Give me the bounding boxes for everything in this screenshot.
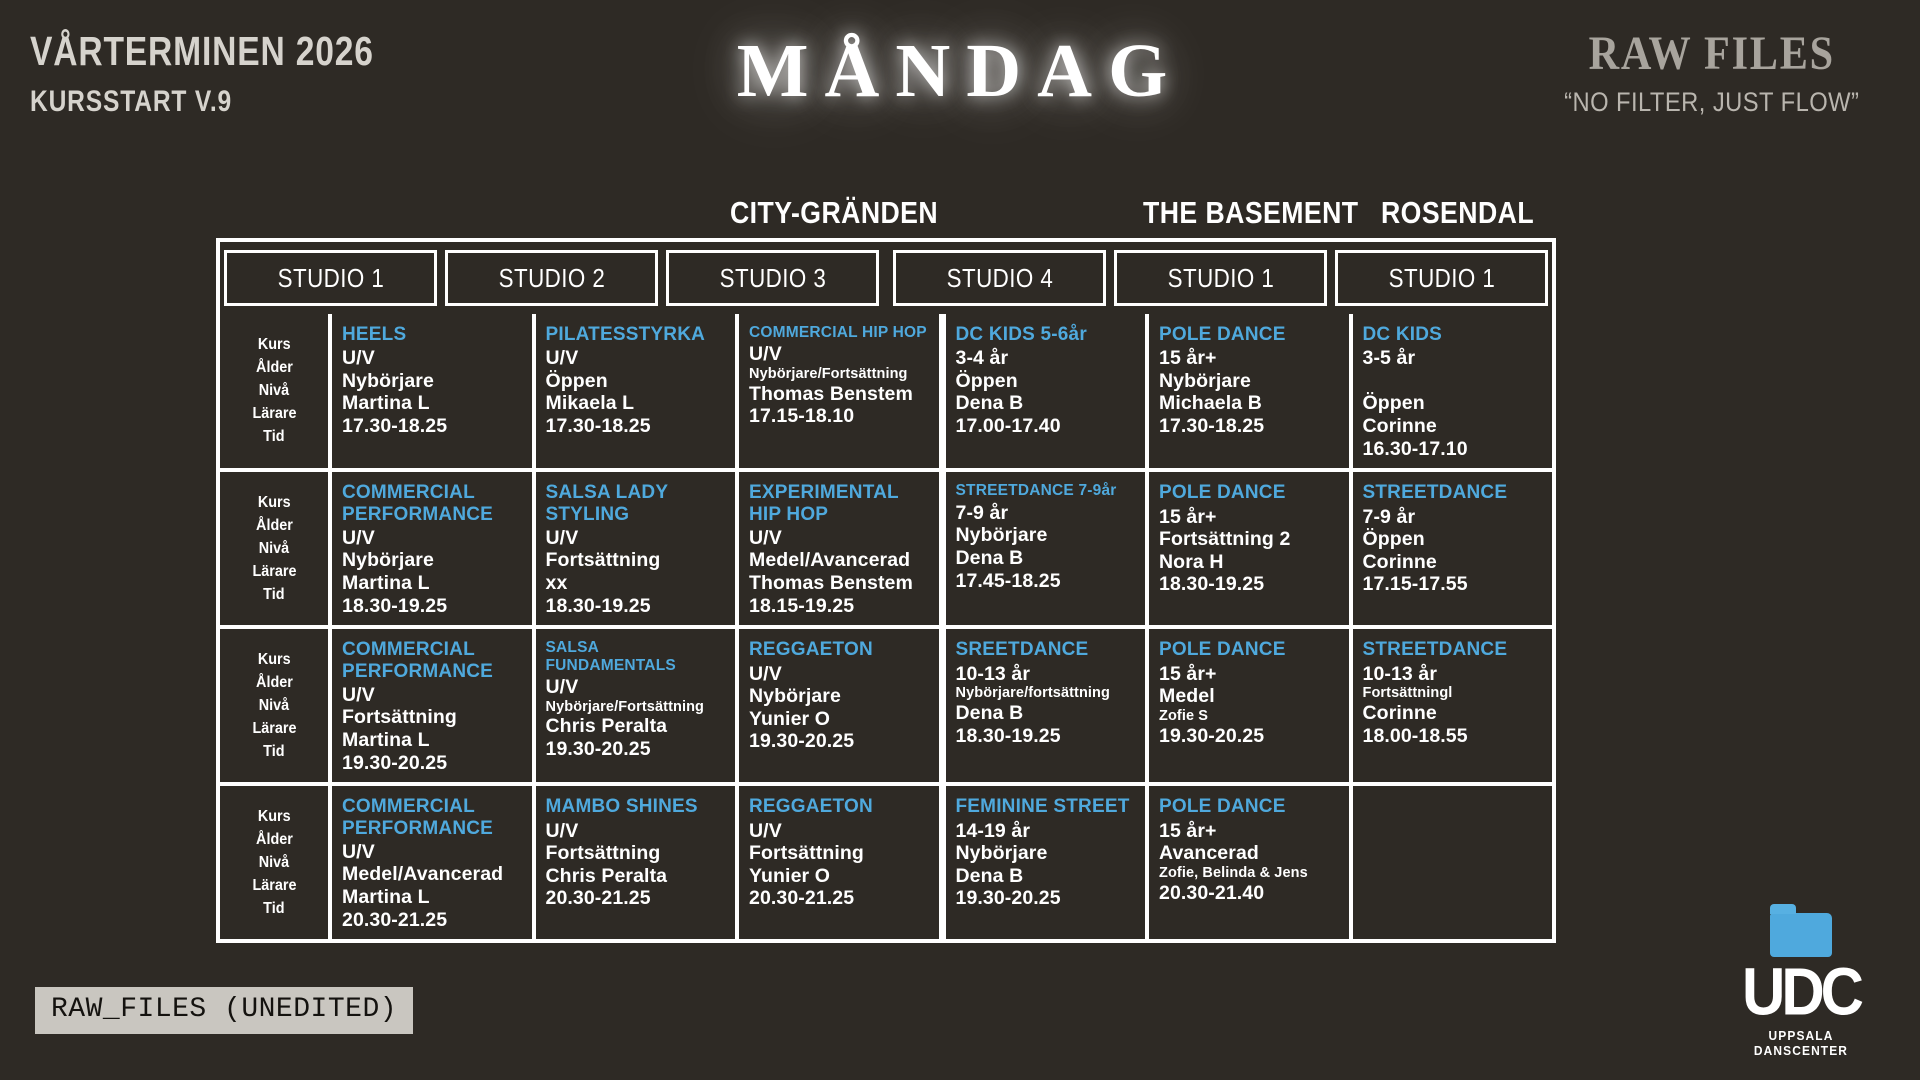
class-title: STREETDANCE	[1363, 639, 1545, 660]
brand-tagline: “NO FILTER, JUST FLOW”	[1565, 87, 1860, 118]
class-level: Medel/Avancerad	[342, 863, 524, 886]
row-label: Lärare	[252, 876, 296, 896]
class-title: COMMERCIAL HIP HOP	[749, 324, 931, 341]
class-age: 3-4 år	[956, 347, 1138, 370]
class-title: COMMERCIAL PERFORMANCE	[342, 639, 524, 682]
class-title: POLE DANCE	[1159, 796, 1341, 817]
class-level: Nybörjare	[1159, 370, 1341, 393]
class-level: Nybörjare/fortsättning	[956, 685, 1138, 702]
studio-header-0: STUDIO 1	[224, 250, 437, 306]
class-age: 15 år+	[1159, 506, 1341, 529]
class-cell-empty	[1353, 786, 1553, 939]
class-teacher: Thomas Benstem	[749, 572, 931, 595]
class-cell[interactable]: HEELSU/VNybörjareMartina L17.30-18.25	[332, 314, 536, 468]
studio-label: STUDIO 1	[1388, 263, 1495, 294]
schedule-row: KursÅlderNivåLärareTidCOMMERCIAL PERFORM…	[220, 782, 1552, 939]
class-teacher: Corinne	[1363, 551, 1545, 574]
row-cells: HEELSU/VNybörjareMartina L17.30-18.25PIL…	[332, 314, 1552, 468]
class-time: 19.30-20.25	[342, 752, 524, 775]
class-title: SALSA LADY STYLING	[546, 482, 728, 525]
class-level: Medel/Avancerad	[749, 549, 931, 572]
class-level: Öppen	[1363, 528, 1545, 551]
class-title: COMMERCIAL PERFORMANCE	[342, 482, 524, 525]
class-teacher: Yunier O	[749, 708, 931, 731]
class-level: Fortsättningl	[1363, 685, 1545, 702]
row-label: Tid	[263, 585, 284, 605]
class-title: DC KIDS	[1363, 324, 1545, 345]
row-label: Kurs	[258, 650, 291, 670]
class-age: 10-13 år	[956, 663, 1138, 686]
class-age: U/V	[749, 663, 931, 686]
class-age: U/V	[749, 343, 931, 366]
class-level: Nybörjare/Fortsättning	[546, 699, 728, 716]
class-level: Nybörjare	[956, 842, 1138, 865]
class-teacher: Thomas Benstem	[749, 383, 931, 406]
class-title: SREETDANCE	[956, 639, 1138, 660]
class-title: SALSA FUNDAMENTALS	[546, 639, 728, 674]
class-title: FEMININE STREET	[956, 796, 1138, 817]
term-title: VÅRTERMINEN 2026	[30, 30, 374, 73]
schedule-row: KursÅlderNivåLärareTidCOMMERCIAL PERFORM…	[220, 468, 1552, 625]
row-label: Ålder	[256, 358, 293, 378]
row-label: Nivå	[259, 539, 289, 559]
class-title: MAMBO SHINES	[546, 796, 728, 817]
class-level: Fortsättning 2	[1159, 528, 1341, 551]
class-time: 19.30-20.25	[956, 887, 1138, 910]
class-title: DC KIDS 5-6år	[956, 324, 1138, 345]
class-level: Fortsättning	[749, 842, 931, 865]
studio-label: STUDIO 3	[719, 263, 826, 294]
class-teacher: Zofie, Belinda & Jens	[1159, 865, 1341, 882]
class-age: 7-9 år	[1363, 506, 1545, 529]
row-label: Kurs	[258, 493, 291, 513]
studio-header-2: STUDIO 3	[666, 250, 879, 306]
logo-subtitle: UPPSALA DANSCENTER	[1732, 1028, 1870, 1058]
row-label-group: KursÅlderNivåLärareTid	[220, 629, 332, 782]
class-teacher: Martina L	[342, 572, 524, 595]
class-age: U/V	[546, 527, 728, 550]
class-age: 10-13 år	[1363, 663, 1545, 686]
row-label-group: KursÅlderNivåLärareTid	[220, 472, 332, 625]
class-time: 18.30-19.25	[956, 725, 1138, 748]
class-time: 18.00-18.55	[1363, 725, 1545, 748]
class-level: Fortsättning	[342, 706, 524, 729]
class-teacher: Öppen	[1363, 392, 1545, 415]
class-level: Nybörjare	[342, 549, 524, 572]
class-level: Nybörjare	[749, 685, 931, 708]
class-cell[interactable]: COMMERCIAL PERFORMANCEU/VFortsättningMar…	[332, 629, 536, 782]
folder-icon	[1770, 913, 1832, 957]
class-time: 18.30-19.25	[546, 595, 728, 618]
studio-header-1: STUDIO 2	[445, 250, 658, 306]
venue-label-the-basement: THE BASEMENT	[1143, 195, 1358, 231]
row-cells: COMMERCIAL PERFORMANCEU/VMedel/Avancerad…	[332, 786, 1552, 939]
class-time: 20.30-21.40	[1159, 882, 1341, 905]
class-title: REGGAETON	[749, 639, 931, 660]
row-label: Nivå	[259, 853, 289, 873]
class-cell[interactable]: SALSA FUNDAMENTALSU/VNybörjare/Fortsättn…	[536, 629, 740, 782]
class-time: 16.30-17.10	[1363, 438, 1545, 461]
studio-header-3: STUDIO 4	[893, 250, 1106, 306]
class-level: Medel	[1159, 685, 1341, 708]
row-label: Lärare	[252, 404, 296, 424]
class-teacher: Corinne	[1363, 702, 1545, 725]
class-cell[interactable]: POLE DANCE15 år+AvanceradZofie, Belinda …	[1149, 786, 1353, 939]
class-level: Fortsättning	[546, 842, 728, 865]
day-title: MÅNDAG	[707, 28, 1213, 115]
brand-title: RAW FILES	[1565, 26, 1860, 81]
class-time: 19.30-20.25	[546, 738, 728, 761]
row-cells: COMMERCIAL PERFORMANCEU/VNybörjareMartin…	[332, 472, 1552, 625]
schedule-row: KursÅlderNivåLärareTidCOMMERCIAL PERFORM…	[220, 625, 1552, 782]
class-cell[interactable]: COMMERCIAL PERFORMANCEU/VNybörjareMartin…	[332, 472, 536, 625]
class-teacher: Dena B	[956, 865, 1138, 888]
class-time: 17.15-18.10	[749, 405, 931, 428]
row-label: Nivå	[259, 381, 289, 401]
class-teacher: Martina L	[342, 729, 524, 752]
class-time: 18.30-19.25	[342, 595, 524, 618]
row-label: Tid	[263, 742, 284, 762]
class-time: 17.30-18.25	[342, 415, 524, 438]
course-start-label: KURSSTART V.9	[30, 85, 374, 119]
studio-label: STUDIO 1	[277, 263, 384, 294]
class-title: POLE DANCE	[1159, 639, 1341, 660]
class-title: STREETDANCE	[1363, 482, 1545, 503]
class-time: 17.00-17.40	[956, 415, 1138, 438]
class-time: 19.30-20.25	[749, 730, 931, 753]
class-time: 20.30-21.25	[749, 887, 931, 910]
row-label: Tid	[263, 899, 284, 919]
venue-label-rosendal: ROSENDAL	[1381, 195, 1534, 231]
class-title: COMMERCIAL PERFORMANCE	[342, 796, 524, 839]
raw-files-badge: RAW_FILES (UNEDITED)	[35, 987, 413, 1034]
class-teacher: Nora H	[1159, 551, 1341, 574]
class-level: Avancerad	[1159, 842, 1341, 865]
class-cell[interactable]: COMMERCIAL HIP HOPU/VNybörjare/Fortsättn…	[739, 314, 946, 468]
class-time: 20.30-21.25	[546, 887, 728, 910]
class-cell[interactable]: POLE DANCE15 år+MedelZofie S19.30-20.25	[1149, 629, 1353, 782]
schedule-body: KursÅlderNivåLärareTidHEELSU/VNybörjareM…	[220, 314, 1552, 939]
row-label: Lärare	[252, 562, 296, 582]
class-level: Öppen	[546, 370, 728, 393]
class-age: 15 år+	[1159, 347, 1341, 370]
class-age: 15 år+	[1159, 820, 1341, 843]
row-label: Ålder	[256, 516, 293, 536]
studio-header-5: STUDIO 1	[1335, 250, 1548, 306]
class-title: POLE DANCE	[1159, 324, 1341, 345]
class-teacher: Martina L	[342, 392, 524, 415]
class-teacher: Chris Peralta	[546, 865, 728, 888]
venue-label-city-granden: CITY-GRÄNDEN	[730, 195, 938, 231]
row-label: Kurs	[258, 335, 291, 355]
class-cell[interactable]: STREETDANCE7-9 årÖppenCorinne17.15-17.55	[1353, 472, 1553, 625]
class-teacher: Chris Peralta	[546, 715, 728, 738]
row-label: Tid	[263, 427, 284, 447]
row-label: Lärare	[252, 719, 296, 739]
class-teacher: Zofie S	[1159, 708, 1341, 725]
class-age: 3-5 år	[1363, 347, 1545, 370]
brand-header: RAW FILES “NO FILTER, JUST FLOW”	[1544, 26, 1880, 118]
studio-label: STUDIO 4	[946, 263, 1053, 294]
class-level: Nybörjare	[956, 524, 1138, 547]
class-teacher-extra: Corinne	[1363, 415, 1545, 438]
class-level: Fortsättning	[546, 549, 728, 572]
class-title: STREETDANCE 7-9år	[956, 482, 1138, 499]
class-title: HEELS	[342, 324, 524, 345]
class-age: U/V	[342, 347, 524, 370]
class-age: U/V	[546, 676, 728, 699]
row-label: Ålder	[256, 830, 293, 850]
class-cell[interactable]: FEMININE STREET14-19 årNybörjareDena B19…	[946, 786, 1150, 939]
class-cell[interactable]: MAMBO SHINESU/VFortsättningChris Peralta…	[536, 786, 740, 939]
row-label: Kurs	[258, 807, 291, 827]
class-teacher: Dena B	[956, 547, 1138, 570]
studio-header-row: STUDIO 1 STUDIO 2 STUDIO 3 STUDIO 4 STUD…	[220, 242, 1552, 314]
class-age: U/V	[342, 527, 524, 550]
class-cell[interactable]: DC KIDS 5-6år3-4 årÖppenDena B17.00-17.4…	[946, 314, 1150, 468]
class-cell[interactable]: COMMERCIAL PERFORMANCEU/VMedel/Avancerad…	[332, 786, 536, 939]
schedule-table: STUDIO 1 STUDIO 2 STUDIO 3 STUDIO 4 STUD…	[216, 238, 1556, 943]
class-teacher: xx	[546, 572, 728, 595]
venue-labels: CITY-GRÄNDEN THE BASEMENT ROSENDAL	[0, 195, 1920, 237]
class-teacher: Dena B	[956, 702, 1138, 725]
class-cell[interactable]: REGGAETONU/VFortsättningYunier O20.30-21…	[739, 786, 946, 939]
class-cell[interactable]: STREETDANCE10-13 årFortsättninglCorinne1…	[1353, 629, 1553, 782]
studio-header-4: STUDIO 1	[1114, 250, 1327, 306]
class-age: 14-19 år	[956, 820, 1138, 843]
class-age: U/V	[546, 820, 728, 843]
class-level: Öppen	[956, 370, 1138, 393]
class-cell[interactable]: SREETDANCE10-13 årNybörjare/fortsättning…	[946, 629, 1150, 782]
class-teacher: Yunier O	[749, 865, 931, 888]
logo-mark: UDC	[1726, 960, 1876, 1024]
class-level: Nybörjare/Fortsättning	[749, 366, 931, 383]
class-cell[interactable]: POLE DANCE15 år+Fortsättning 2Nora H18.3…	[1149, 472, 1353, 625]
class-time: 18.15-19.25	[749, 595, 931, 618]
row-label: Ålder	[256, 673, 293, 693]
class-cell[interactable]: POLE DANCE15 år+NybörjareMichaela B17.30…	[1149, 314, 1353, 468]
row-label: Nivå	[259, 696, 289, 716]
class-cell[interactable]: EXPERIMENTAL HIP HOPU/VMedel/AvanceradTh…	[739, 472, 946, 625]
row-label-group: KursÅlderNivåLärareTid	[220, 786, 332, 939]
class-time: 20.30-21.25	[342, 909, 524, 932]
class-teacher: Mikaela L	[546, 392, 728, 415]
udc-logo: UDC UPPSALA DANSCENTER	[1726, 913, 1876, 1058]
class-time: 18.30-19.25	[1159, 573, 1341, 596]
class-cell[interactable]: DC KIDS3-5 år ÖppenCorinne16.30-17.10	[1353, 314, 1553, 468]
class-age: U/V	[749, 527, 931, 550]
class-time: 19.30-20.25	[1159, 725, 1341, 748]
class-teacher: Dena B	[956, 392, 1138, 415]
class-age: 7-9 år	[956, 502, 1138, 525]
class-teacher: Martina L	[342, 886, 524, 909]
class-teacher: Michaela B	[1159, 392, 1341, 415]
class-level: Nybörjare	[342, 370, 524, 393]
class-age: 15 år+	[1159, 663, 1341, 686]
schedule-row: KursÅlderNivåLärareTidHEELSU/VNybörjareM…	[220, 314, 1552, 468]
class-cell[interactable]: REGGAETONU/VNybörjareYunier O19.30-20.25	[739, 629, 946, 782]
class-age: U/V	[749, 820, 931, 843]
class-title: POLE DANCE	[1159, 482, 1341, 503]
class-title: REGGAETON	[749, 796, 931, 817]
class-age: U/V	[546, 347, 728, 370]
studio-label: STUDIO 2	[498, 263, 605, 294]
class-cell[interactable]: PILATESSTYRKAU/VÖppenMikaela L17.30-18.2…	[536, 314, 740, 468]
class-title: EXPERIMENTAL HIP HOP	[749, 482, 931, 525]
class-cell[interactable]: STREETDANCE 7-9år7-9 årNybörjareDena B17…	[946, 472, 1150, 625]
class-cell[interactable]: SALSA LADY STYLINGU/VFortsättningxx18.30…	[536, 472, 740, 625]
class-time: 17.30-18.25	[546, 415, 728, 438]
class-age: U/V	[342, 684, 524, 707]
class-time: 17.45-18.25	[956, 570, 1138, 593]
class-title: PILATESSTYRKA	[546, 324, 728, 345]
class-time: 17.30-18.25	[1159, 415, 1341, 438]
row-cells: COMMERCIAL PERFORMANCEU/VFortsättningMar…	[332, 629, 1552, 782]
class-age: U/V	[342, 841, 524, 864]
row-label-group: KursÅlderNivåLärareTid	[220, 314, 332, 468]
class-time: 17.15-17.55	[1363, 573, 1545, 596]
term-header: VÅRTERMINEN 2026 KURSSTART V.9	[30, 30, 449, 119]
studio-label: STUDIO 1	[1167, 263, 1274, 294]
